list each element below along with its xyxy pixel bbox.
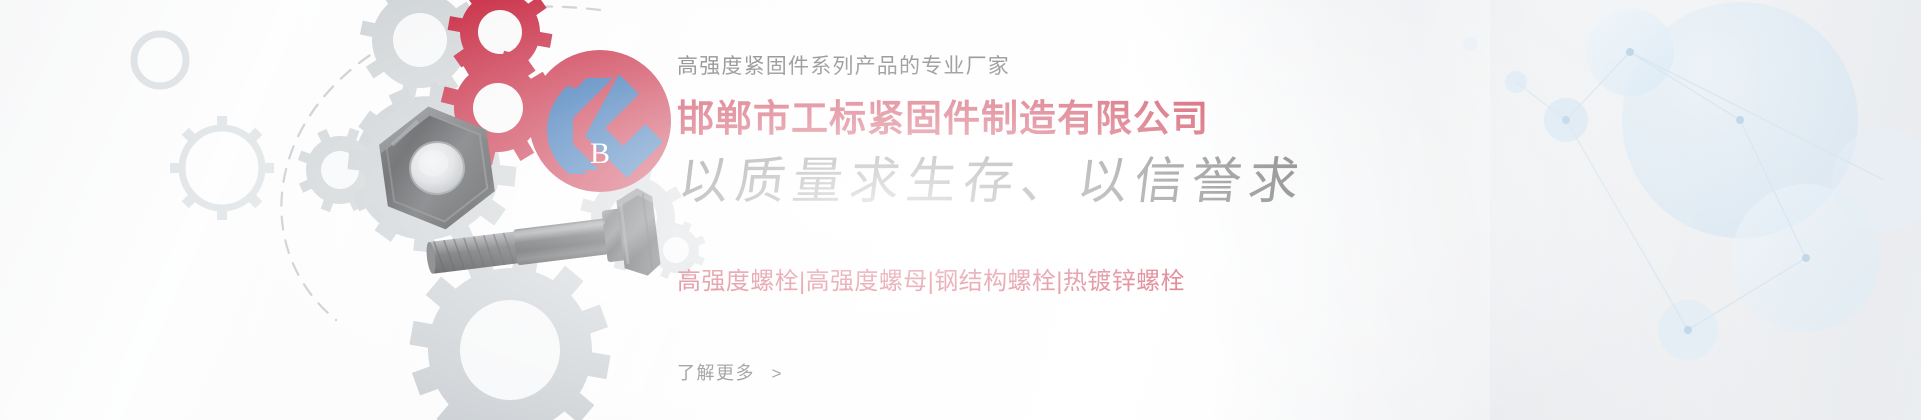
product-links[interactable]: 高强度螺栓|高强度螺母|钢结构螺栓|热镀锌螺栓	[677, 268, 1185, 296]
company-name-heading: 邯郸市工标紧固件制造有限公司	[677, 99, 1209, 139]
hero-banner: B 高强度紧固件系列产品的专业厂家 邯郸市工标紧固件制造有限公司 以质量求生存、…	[0, 0, 1921, 420]
calligraphy-slogan: 以质量求生存、以信誉求发展	[677, 146, 1297, 212]
logo-letter: B	[590, 137, 610, 170]
banner-text-block: 高强度紧固件系列产品的专业厂家 邯郸市工标紧固件制造有限公司 以质量求生存、以信…	[677, 0, 1437, 420]
learn-more-link[interactable]: 了解更多 >	[677, 361, 783, 386]
chevron-right-icon: >	[772, 364, 783, 383]
company-logo[interactable]: B	[527, 48, 673, 194]
learn-more-label: 了解更多	[677, 363, 755, 383]
banner-tagline: 高强度紧固件系列产品的专业厂家	[677, 55, 1010, 79]
calligraphy-slogan-text: 以质量求生存、以信誉求发展	[677, 153, 1297, 209]
